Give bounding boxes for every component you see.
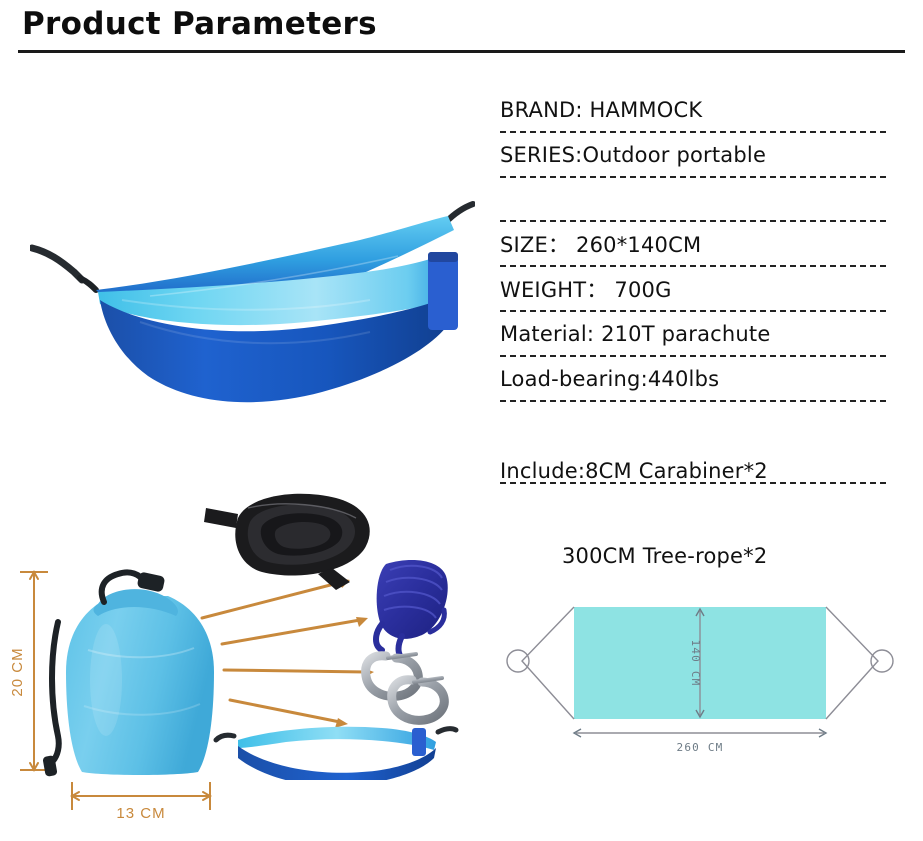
spec-brand-text: BRAND: HAMMOCK bbox=[500, 98, 702, 122]
spec-weight-text: WEIGHT： 700G bbox=[500, 274, 672, 304]
diagram-height-label: 140 CM bbox=[689, 640, 702, 687]
sack-height-label: 20 CM bbox=[9, 647, 26, 696]
spec-row-spacer bbox=[500, 178, 886, 222]
spec-row-material: Material: 210T parachute bbox=[500, 312, 886, 357]
spec-include-line2: 300CM Tree-rope*2 bbox=[500, 538, 886, 575]
rope-coil-icon bbox=[376, 560, 448, 660]
tree-strap-icon bbox=[204, 494, 370, 590]
spec-row-weight: WEIGHT： 700G bbox=[500, 267, 886, 312]
spec-table: BRAND: HAMMOCK SERIES:Outdoor portable S… bbox=[500, 88, 886, 484]
title-divider bbox=[18, 50, 905, 53]
spec-material-text: Material: 210T parachute bbox=[500, 322, 770, 346]
hammock-photo bbox=[30, 196, 475, 421]
accessories-group bbox=[190, 478, 460, 780]
left-ring-icon bbox=[507, 650, 529, 672]
size-diagram: 140 CM 260 CM bbox=[500, 585, 905, 770]
spec-row-brand: BRAND: HAMMOCK bbox=[500, 88, 886, 133]
folded-hammock-icon bbox=[216, 727, 456, 780]
spec-load-bearing-text: Load-bearing:440lbs bbox=[500, 367, 719, 391]
spec-size-text: SIZE： 260*140CM bbox=[500, 229, 701, 259]
carabiner-icon bbox=[366, 654, 445, 720]
spec-series-text: SERIES:Outdoor portable bbox=[500, 143, 766, 167]
spec-include-line1: Include:8CM Carabiner*2 bbox=[500, 453, 886, 490]
page-title: Product Parameters bbox=[22, 6, 377, 42]
sack-width-label: 13 CM bbox=[116, 805, 165, 822]
arrow-group bbox=[202, 578, 374, 728]
spec-row-size: SIZE： 260*140CM bbox=[500, 222, 886, 267]
spec-row-series: SERIES:Outdoor portable bbox=[500, 133, 886, 178]
spec-row-include: Include:8CM Carabiner*2 300CM Tree-rope*… bbox=[500, 402, 886, 484]
right-ring-icon bbox=[871, 650, 893, 672]
spec-row-load-bearing: Load-bearing:440lbs bbox=[500, 357, 886, 402]
diagram-width-label: 260 CM bbox=[677, 741, 724, 754]
